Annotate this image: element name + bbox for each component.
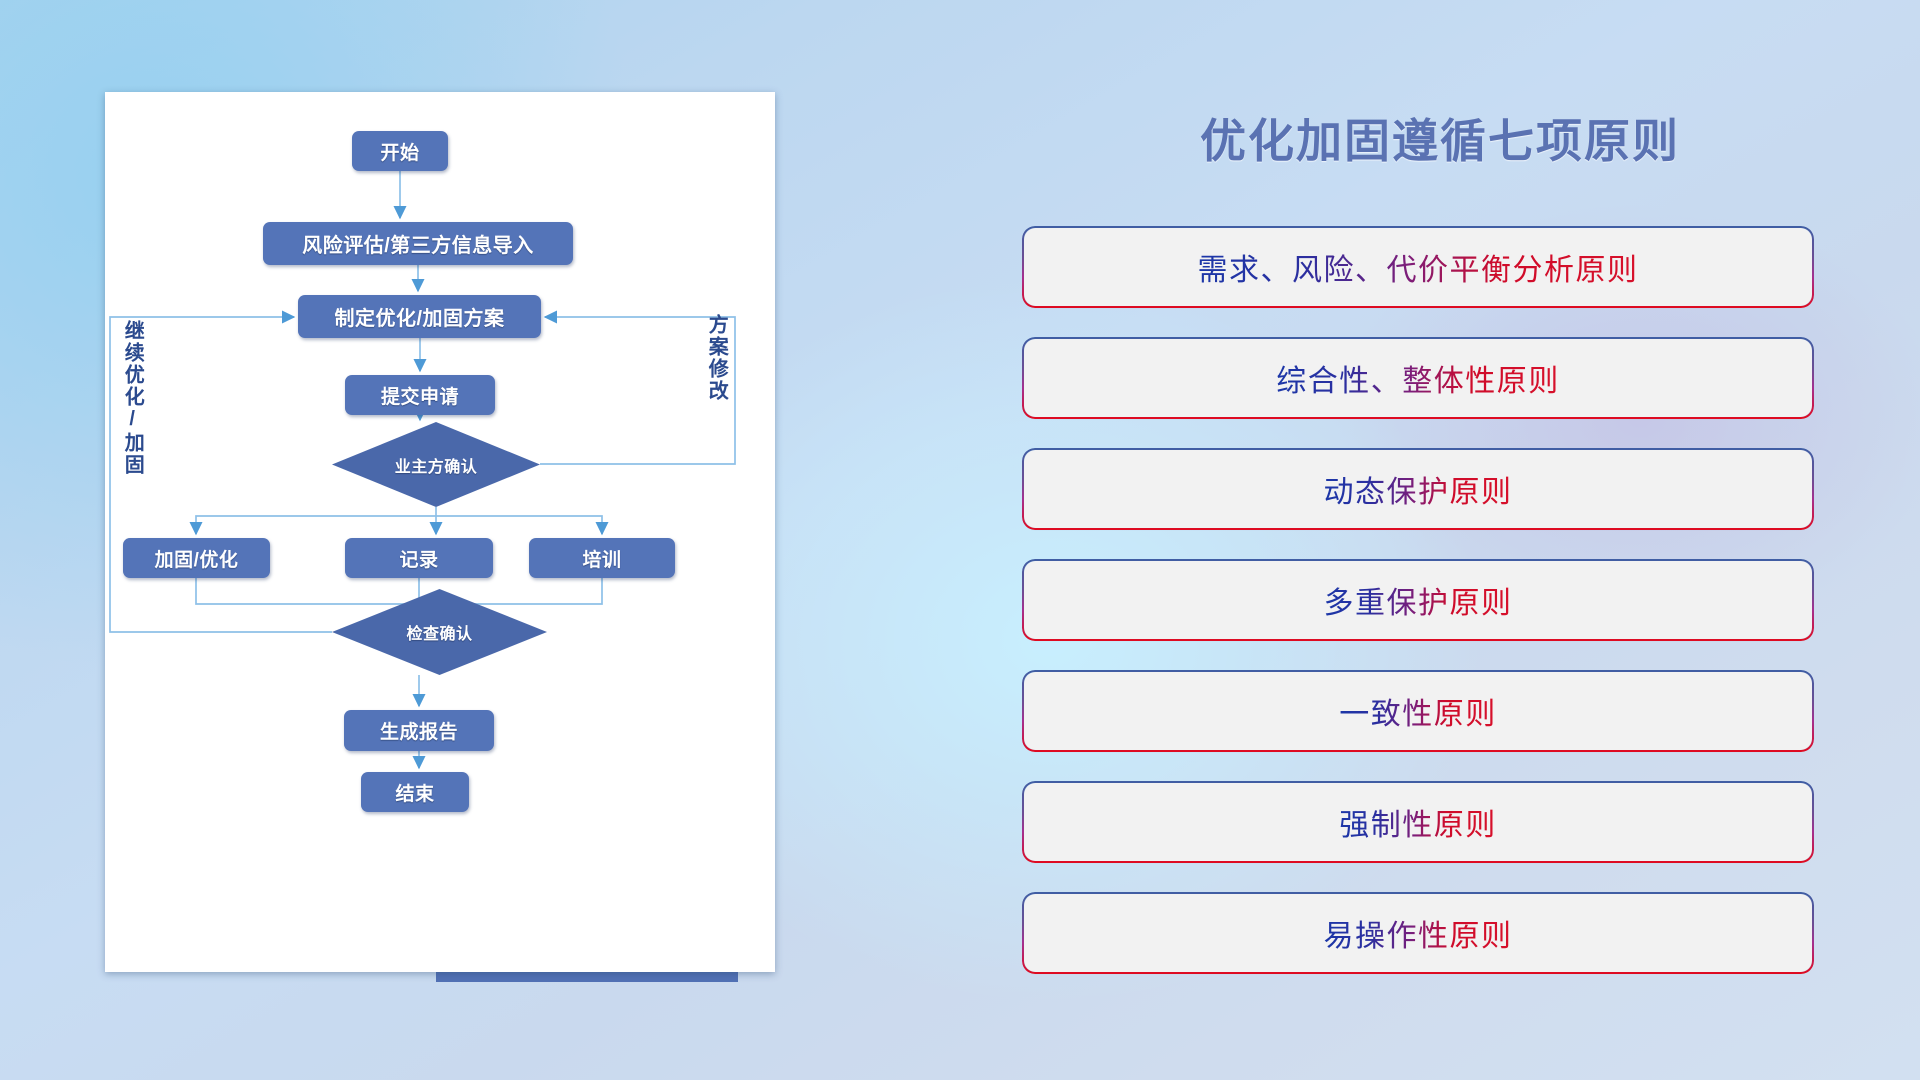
- flow-node-risk-assessment[interactable]: 风险评估/第三方信息导入: [263, 222, 573, 265]
- flow-node-plan[interactable]: 制定优化/加固方案: [298, 295, 541, 338]
- panel-title: 优化加固遵循七项原则: [1000, 105, 1880, 171]
- principle-label: 需求、风险、代价平衡分析原则: [1198, 245, 1639, 289]
- principles-list: 需求、风险、代价平衡分析原则 综合性、整体性原则 动态保护原则 多重保护原则 一…: [1024, 228, 1812, 1005]
- flow-node-end[interactable]: 结束: [361, 772, 469, 812]
- flow-node-record[interactable]: 记录: [345, 538, 493, 578]
- principles-panel: 优化加固遵循七项原则 需求、风险、代价平衡分析原则 综合性、整体性原则 动态保护…: [1000, 0, 1920, 1080]
- principle-label: 多重保护原则: [1324, 578, 1513, 622]
- flow-label-plan-revision: 方案修改: [705, 314, 726, 402]
- principle-card[interactable]: 强制性原则: [1024, 783, 1812, 861]
- flow-node-start[interactable]: 开始: [352, 131, 448, 171]
- principle-label: 动态保护原则: [1324, 467, 1513, 511]
- principle-label: 强制性原则: [1339, 800, 1497, 844]
- flow-node-label: 检查确认: [406, 620, 472, 644]
- principle-card[interactable]: 综合性、整体性原则: [1024, 339, 1812, 417]
- principle-card[interactable]: 需求、风险、代价平衡分析原则: [1024, 228, 1812, 306]
- flow-node-training[interactable]: 培训: [529, 538, 675, 578]
- flow-node-owner-confirmation[interactable]: 业主方确认: [332, 422, 540, 507]
- principle-card[interactable]: 多重保护原则: [1024, 561, 1812, 639]
- flow-node-reinforce[interactable]: 加固/优化: [123, 538, 270, 578]
- principle-card[interactable]: 易操作性原则: [1024, 894, 1812, 972]
- principle-card[interactable]: 动态保护原则: [1024, 450, 1812, 528]
- flow-node-check-confirmation[interactable]: 检查确认: [332, 589, 547, 675]
- flow-node-generate-report[interactable]: 生成报告: [344, 710, 494, 751]
- flow-node-label: 业主方确认: [395, 453, 478, 477]
- flowchart-card: 开始 风险评估/第三方信息导入 制定优化/加固方案 提交申请 业主方确认 加固/…: [105, 92, 775, 972]
- principle-label: 一致性原则: [1339, 689, 1497, 733]
- flow-label-continue-optimization: 继续优化/加固: [121, 320, 142, 476]
- principle-label: 综合性、整体性原则: [1276, 356, 1560, 400]
- flowchart-region: 开始 风险评估/第三方信息导入 制定优化/加固方案 提交申请 业主方确认 加固/…: [0, 0, 920, 1080]
- principle-label: 易操作性原则: [1324, 911, 1513, 955]
- principle-card[interactable]: 一致性原则: [1024, 672, 1812, 750]
- flow-node-submit-application[interactable]: 提交申请: [345, 375, 495, 415]
